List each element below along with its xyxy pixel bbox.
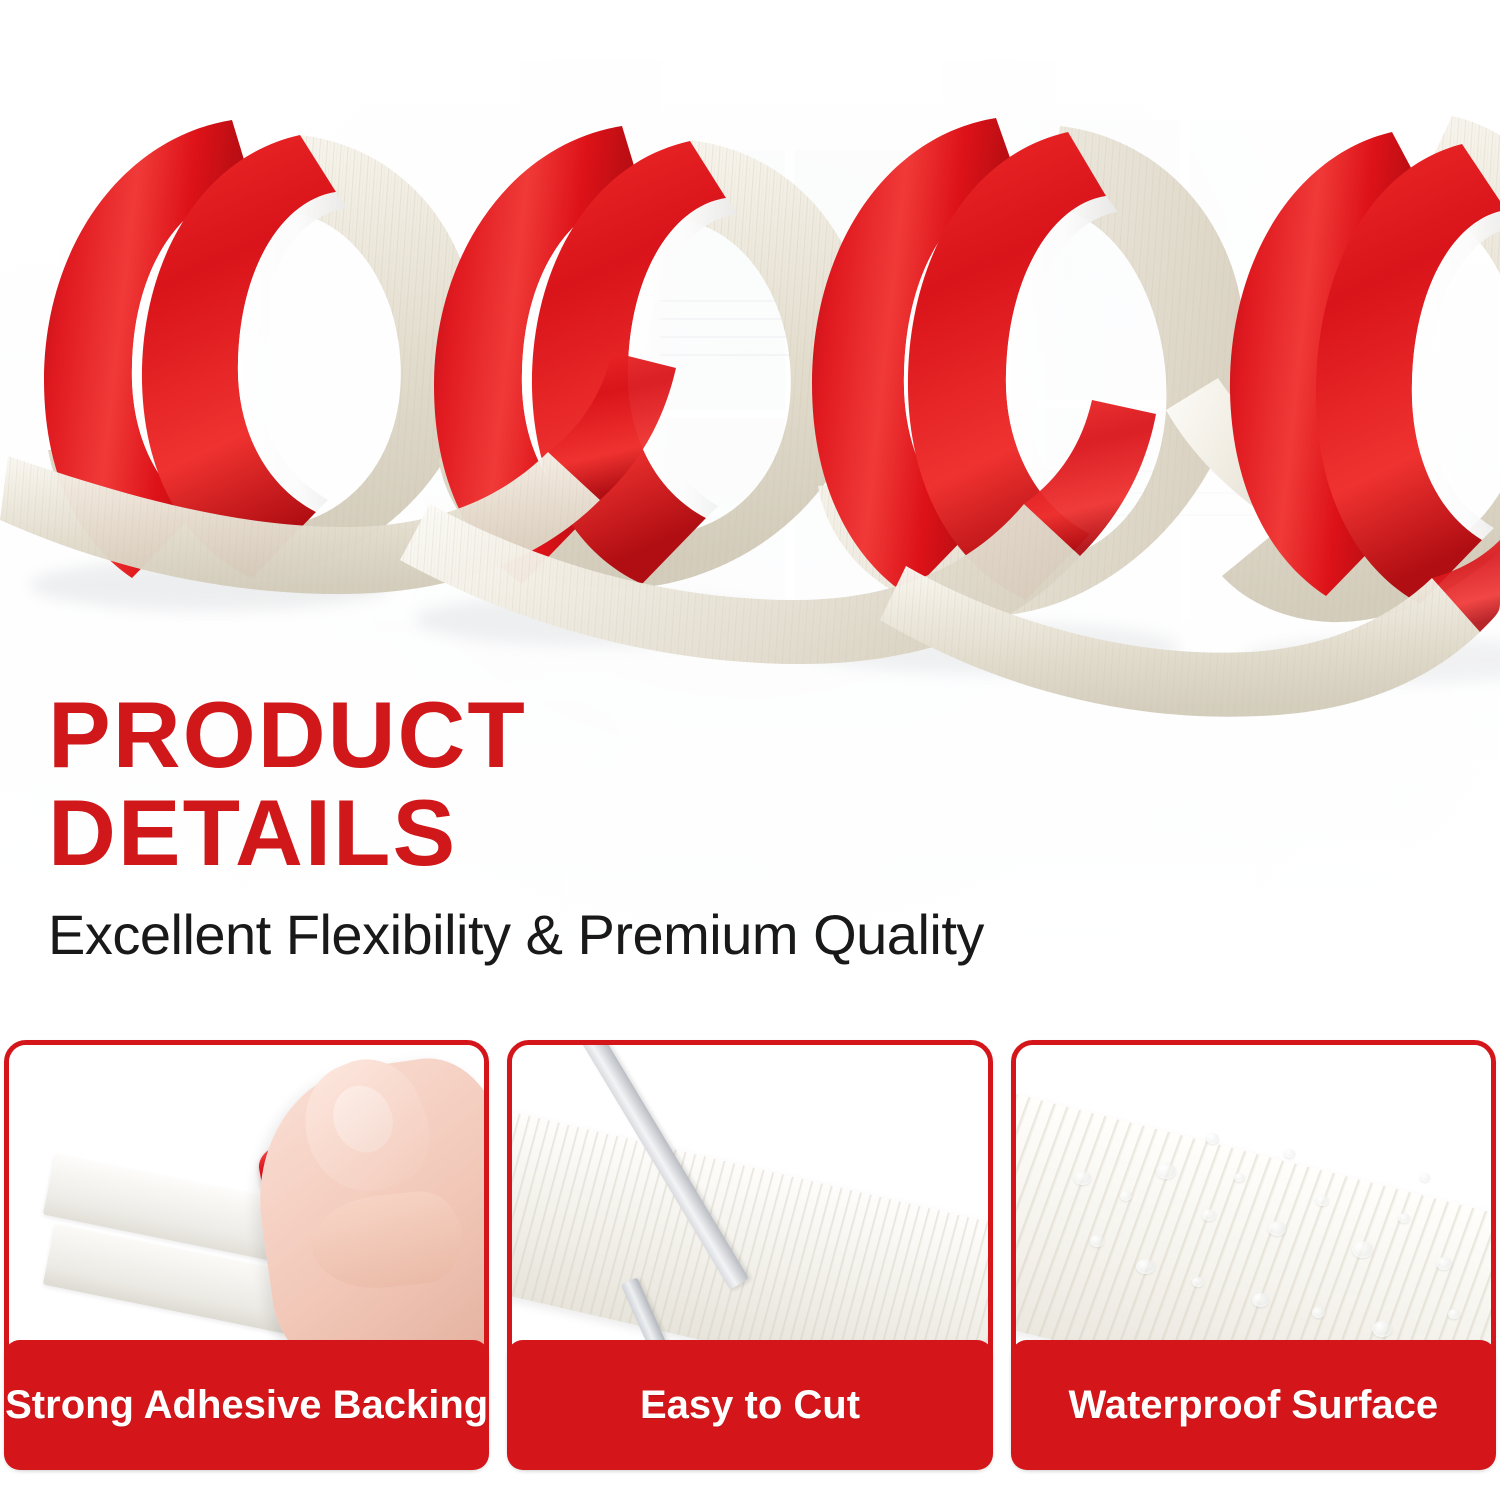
page-title-line2: DETAILS <box>48 784 1228 882</box>
card-caption-bar: Waterproof Surface <box>1011 1340 1496 1470</box>
card-caption-bar: Strong Adhesive Backing <box>4 1340 489 1470</box>
hero-product-image <box>0 0 1500 760</box>
water-droplet <box>1372 1321 1392 1337</box>
product-details-infographic: PRODUCT DETAILS Excellent Flexibility & … <box>0 0 1500 1500</box>
water-droplet <box>1448 1309 1460 1319</box>
water-droplet <box>1420 1173 1430 1182</box>
water-droplet <box>1268 1221 1286 1236</box>
water-droplet <box>1192 1277 1204 1287</box>
heading-block: PRODUCT DETAILS Excellent Flexibility & … <box>48 686 1228 966</box>
water-droplet <box>1206 1133 1219 1144</box>
water-droplet <box>1398 1213 1410 1223</box>
card-caption-text: Strong Adhesive Backing <box>5 1383 488 1428</box>
card-caption-bar: Easy to Cut <box>507 1340 992 1470</box>
feature-card-waterproof[interactable]: Waterproof Surface <box>1007 1040 1500 1470</box>
edge-banding-coil-svg <box>0 0 1500 760</box>
water-droplet <box>1156 1163 1176 1179</box>
water-droplet <box>1074 1171 1091 1185</box>
water-droplet <box>1234 1173 1245 1182</box>
water-droplet <box>1090 1235 1104 1247</box>
feature-card-adhesive[interactable]: Strong Adhesive Backing <box>0 1040 493 1470</box>
water-droplet <box>1284 1149 1295 1158</box>
water-droplet <box>1252 1293 1269 1307</box>
water-droplet <box>1202 1209 1216 1221</box>
page-title-line1: PRODUCT <box>48 686 1228 784</box>
card-caption-text: Waterproof Surface <box>1068 1383 1438 1428</box>
water-droplet <box>1120 1191 1132 1201</box>
page-subtitle: Excellent Flexibility & Premium Quality <box>48 904 1228 966</box>
water-droplet <box>1436 1257 1452 1270</box>
water-droplet <box>1352 1241 1373 1258</box>
feature-card-easy-to-cut[interactable]: Easy to Cut <box>503 1040 996 1470</box>
feature-cards-row: Strong Adhesive Backing Easy to Cut <box>0 1040 1500 1470</box>
water-droplet <box>1136 1259 1155 1274</box>
card-caption-text: Easy to Cut <box>640 1383 860 1428</box>
water-droplet <box>1312 1307 1325 1318</box>
water-droplet <box>1316 1195 1329 1206</box>
